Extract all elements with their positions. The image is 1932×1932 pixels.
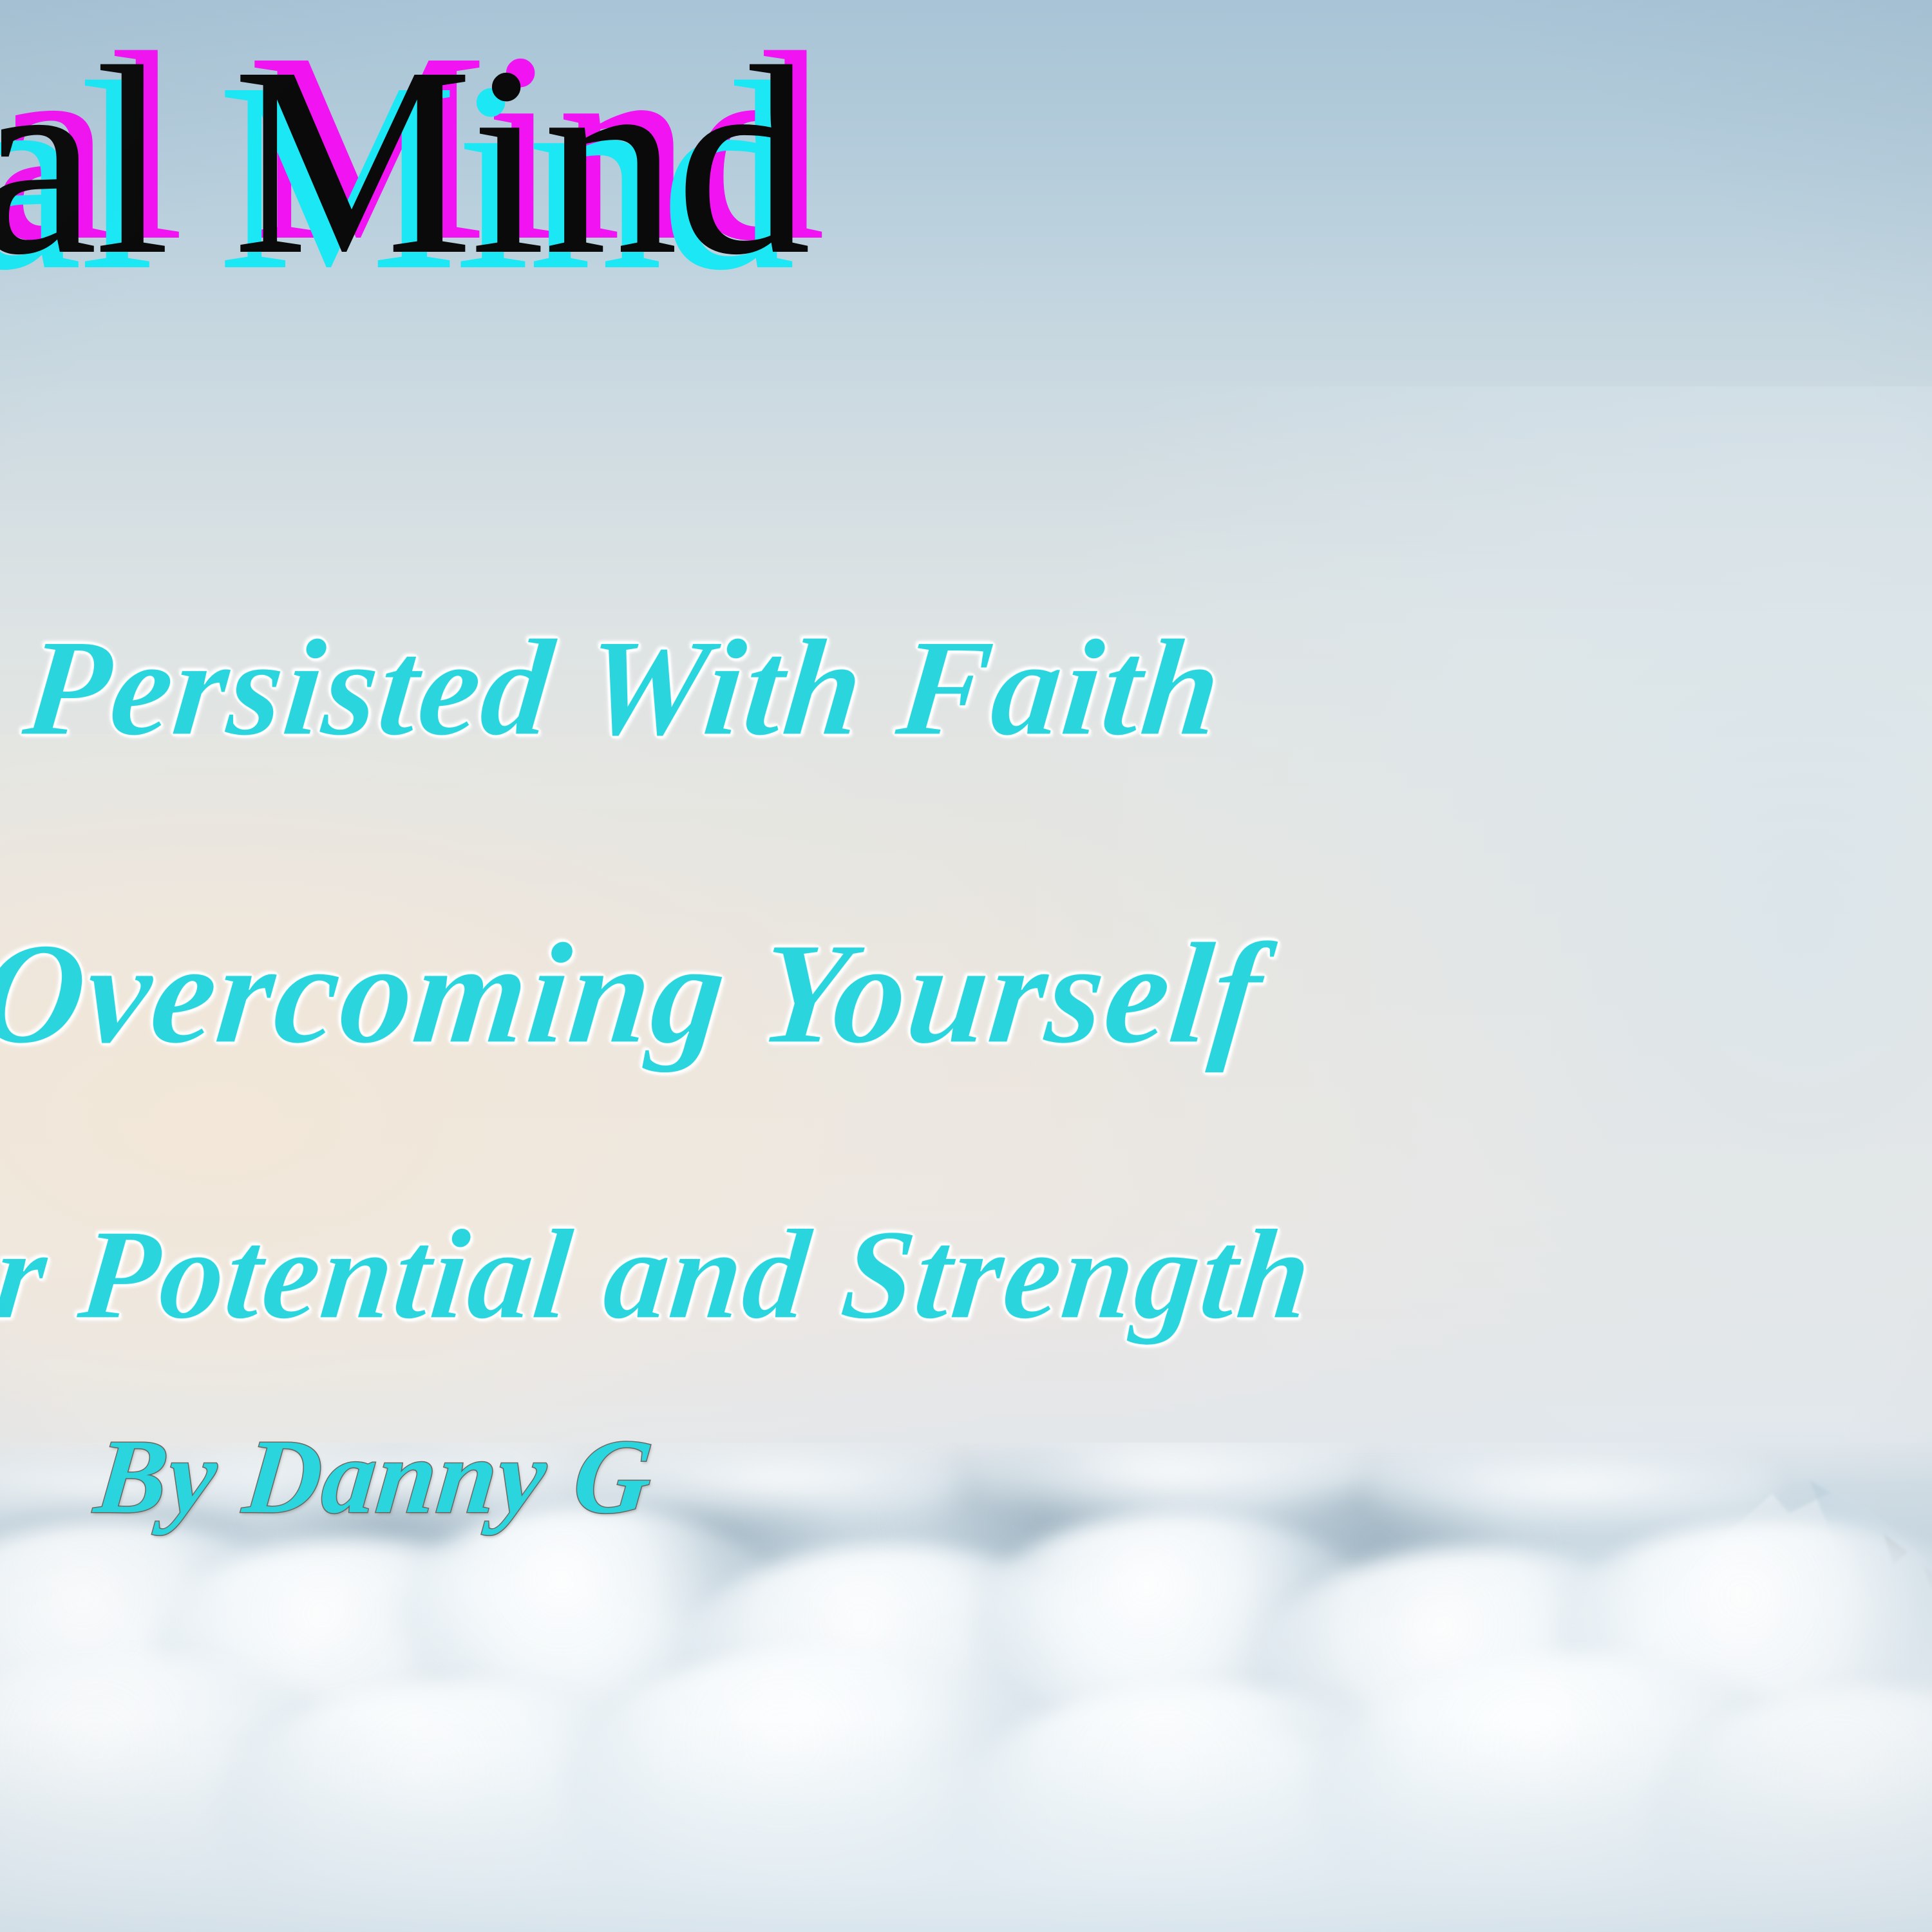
- subtitle-line-3: ur Potential and Strength: [0, 1211, 1318, 1340]
- subtitle-line-1: Persisted With Faith: [19, 618, 1229, 757]
- book-title: ical Mind ical Mind ical Mind: [0, 26, 1932, 296]
- cloud-lower-fade: [0, 1719, 1932, 1932]
- title-main-text: ical Mind: [0, 26, 808, 296]
- subtitle-line-2: Overcoming Yourself: [0, 921, 1270, 1066]
- book-cover-poster: ical Mind ical Mind ical Mind Persisted …: [0, 0, 1932, 1932]
- author-byline: By Danny G: [91, 1423, 658, 1529]
